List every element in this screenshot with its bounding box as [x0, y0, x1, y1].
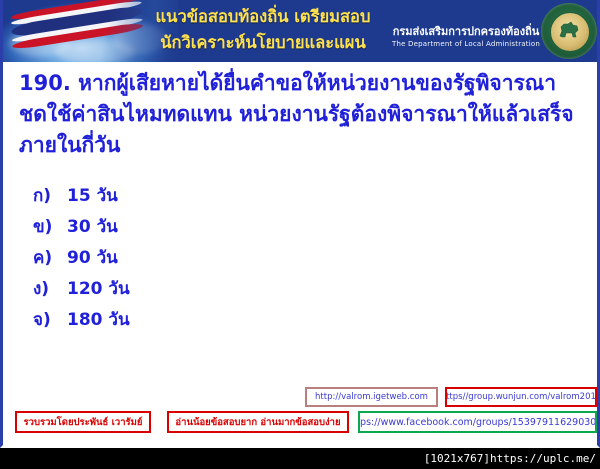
answer-choice-1[interactable]: ก) 15 วัน — [33, 182, 363, 213]
department-name-thai: กรมส่งเสริมการปกครองท้องถิ่น — [391, 25, 541, 39]
wunjun-url-box[interactable]: https//group.wunjun.com/valrom2012 — [445, 387, 597, 407]
answer-choice-key: จ) — [33, 306, 67, 333]
answer-choice-label: 120 วัน — [67, 275, 130, 302]
department-name-group: กรมส่งเสริมการปกครองท้องถิ่น The Departm… — [391, 25, 541, 49]
facebook-group-url-box[interactable]: https://www.facebook.com/groups/15397911… — [358, 411, 597, 433]
answer-choice-5[interactable]: จ) 180 วัน — [33, 306, 363, 337]
answer-choice-label: 90 วัน — [67, 244, 118, 271]
department-name-english: The Department of Local Administration — [391, 39, 541, 49]
header-title-line2: นักวิเคราะห์นโยบายและแผน — [123, 30, 403, 56]
answer-choice-label: 180 วัน — [67, 306, 130, 333]
answer-choice-key: ก) — [33, 182, 67, 209]
question-text: 190. หากผู้เสียหายได้ยื่นคำขอให้หน่วยงาน… — [19, 68, 585, 161]
answer-choice-2[interactable]: ข) 30 วัน — [33, 213, 363, 244]
header-banner: แนวข้อสอบท้องถิ่น เตรียมสอบ นักวิเคราะห์… — [3, 0, 600, 62]
author-credit-box: รวบรวมโดยประพันธ์ เวารัมย์ — [15, 411, 151, 433]
slide-canvas: แนวข้อสอบท้องถิ่น เตรียมสอบ นักวิเคราะห์… — [0, 0, 600, 448]
answer-choice-key: ง) — [33, 275, 67, 302]
question-line-1: 190. หากผู้เสียหายได้ยื่นคำขอให้หน่วยงาน… — [19, 68, 585, 99]
watermark-bar: [1021x767]https://uplc.me/ — [0, 448, 600, 469]
answer-choice-label: 15 วัน — [67, 182, 118, 209]
answer-choice-4[interactable]: ง) 120 วัน — [33, 275, 363, 306]
answer-choice-label: 30 วัน — [67, 213, 118, 240]
header-title-line1: แนวข้อสอบท้องถิ่น เตรียมสอบ — [123, 4, 403, 30]
answer-choice-3[interactable]: ค) 90 วัน — [33, 244, 363, 275]
question-line-3: ภายในกี่วัน — [19, 130, 585, 161]
motto-box: อ่านน้อยข้อสอบยาก อ่านมากข้อสอบง่าย — [167, 411, 349, 433]
question-line-2: ชดใช้ค่าสินไหมทดแทน หน่วยงานรัฐต้องพิจาร… — [19, 99, 585, 130]
header-title-group: แนวข้อสอบท้องถิ่น เตรียมสอบ นักวิเคราะห์… — [123, 4, 403, 56]
department-seal-icon — [541, 3, 597, 59]
answer-choice-list: ก) 15 วัน ข) 30 วัน ค) 90 วัน ง) 120 วัน… — [33, 182, 363, 337]
answer-choice-key: ค) — [33, 244, 67, 271]
answer-choice-key: ข) — [33, 213, 67, 240]
igetweb-url-box[interactable]: http://valrom.igetweb.com — [305, 387, 438, 407]
